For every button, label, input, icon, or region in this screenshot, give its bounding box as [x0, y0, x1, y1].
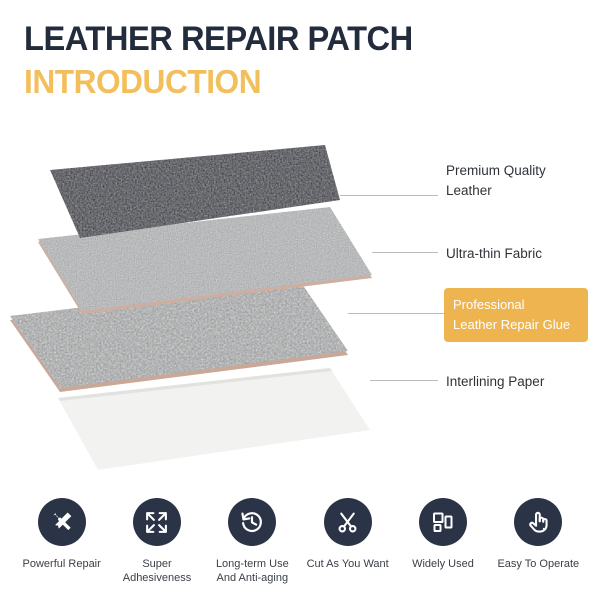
feature-label: Powerful Repair: [23, 557, 101, 571]
feature-label: Cut As You Want: [307, 557, 389, 571]
page-header: LEATHER REPAIR PATCH INTRODUCTION: [24, 22, 584, 98]
feature-item-easy-to-operate: Easy To Operate: [491, 498, 586, 585]
callout-ultrathin-fabric: Ultra-thin Fabric: [446, 244, 542, 264]
leader-line-glue: [348, 313, 444, 314]
page-title: LEATHER REPAIR PATCH: [24, 22, 562, 56]
feature-label: Long-term Use And Anti-aging: [216, 557, 289, 585]
clock-rotate-icon: [228, 498, 276, 546]
feature-label: Widely Used: [412, 557, 474, 571]
shapes-icon: [419, 498, 467, 546]
patch-layers-illustration: [0, 130, 430, 470]
feature-label: Easy To Operate: [497, 557, 579, 571]
page-subtitle: INTRODUCTION: [24, 65, 562, 98]
feature-item-long-term-use: Long-term Use And Anti-aging: [205, 498, 300, 585]
leader-line-fabric: [372, 252, 438, 253]
expand-arrows-icon: [133, 498, 181, 546]
callout-premium-leather: Premium Quality Leather: [446, 161, 546, 202]
callout-repair-glue: Professional Leather Repair Glue: [444, 288, 588, 342]
callout-interlining-paper: Interlining Paper: [446, 372, 544, 392]
feature-list: Powerful Repair Super Adhesiveness Long-…: [0, 498, 600, 585]
feature-label: Super Adhesiveness: [109, 557, 204, 585]
feature-item-cut-as-you-want: Cut As You Want: [300, 498, 395, 585]
feature-item-widely-used: Widely Used: [395, 498, 490, 585]
scissors-icon: [324, 498, 372, 546]
pointing-hand-icon: [514, 498, 562, 546]
feature-item-powerful-repair: Powerful Repair: [14, 498, 109, 585]
wrench-screwdriver-icon: [38, 498, 86, 546]
feature-item-super-adhesiveness: Super Adhesiveness: [109, 498, 204, 585]
leader-line-interlining: [370, 380, 438, 381]
leader-line-leather: [340, 195, 438, 196]
